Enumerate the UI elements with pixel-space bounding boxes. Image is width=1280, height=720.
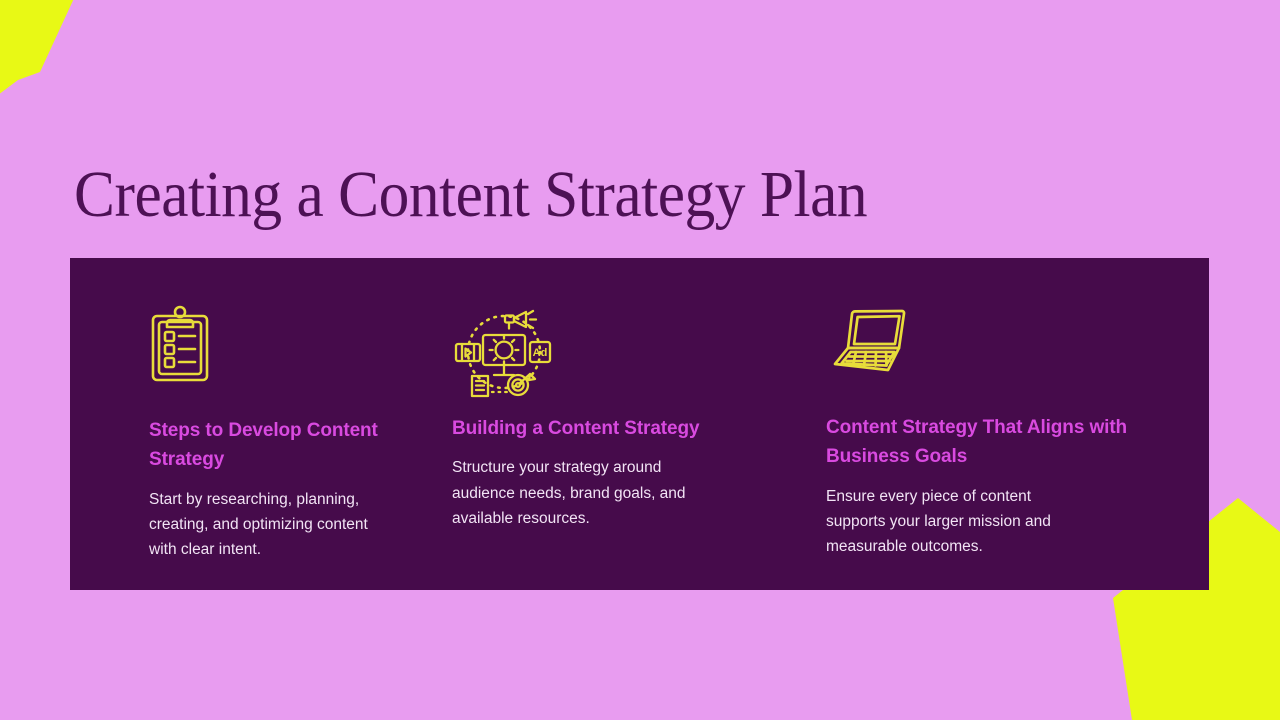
card-heading: Steps to Develop Content Strategy	[149, 416, 396, 475]
card-body: Start by researching, planning, creating…	[149, 487, 394, 562]
column-steps-to-develop: Steps to Develop Content Strategy Start …	[70, 304, 430, 590]
column-building-a-content-strategy: Ad Building a Content Strategy Structure…	[430, 304, 803, 590]
top-left-yellow-shape	[0, 0, 134, 114]
page-title: Creating a Content Strategy Plan	[74, 160, 867, 229]
card-body: Structure your strategy around audience …	[452, 455, 714, 530]
columns-container: Steps to Develop Content Strategy Start …	[70, 258, 1209, 590]
column-aligns-with-business-goals: Content Strategy That Aligns with Busine…	[803, 304, 1209, 590]
card-heading: Building a Content Strategy	[452, 414, 769, 443]
laptop-icon	[826, 304, 1175, 400]
card-body: Ensure every piece of content supports y…	[826, 484, 1078, 559]
svg-text:Ad: Ad	[533, 347, 548, 359]
content-panel: Steps to Develop Content Strategy Start …	[70, 258, 1209, 590]
content-marketing-cycle-icon: Ad	[452, 304, 769, 400]
clipboard-checklist-icon	[149, 304, 396, 400]
slide: Creating a Content Strategy Plan	[0, 0, 1280, 720]
card-heading: Content Strategy That Aligns with Busine…	[826, 413, 1175, 472]
